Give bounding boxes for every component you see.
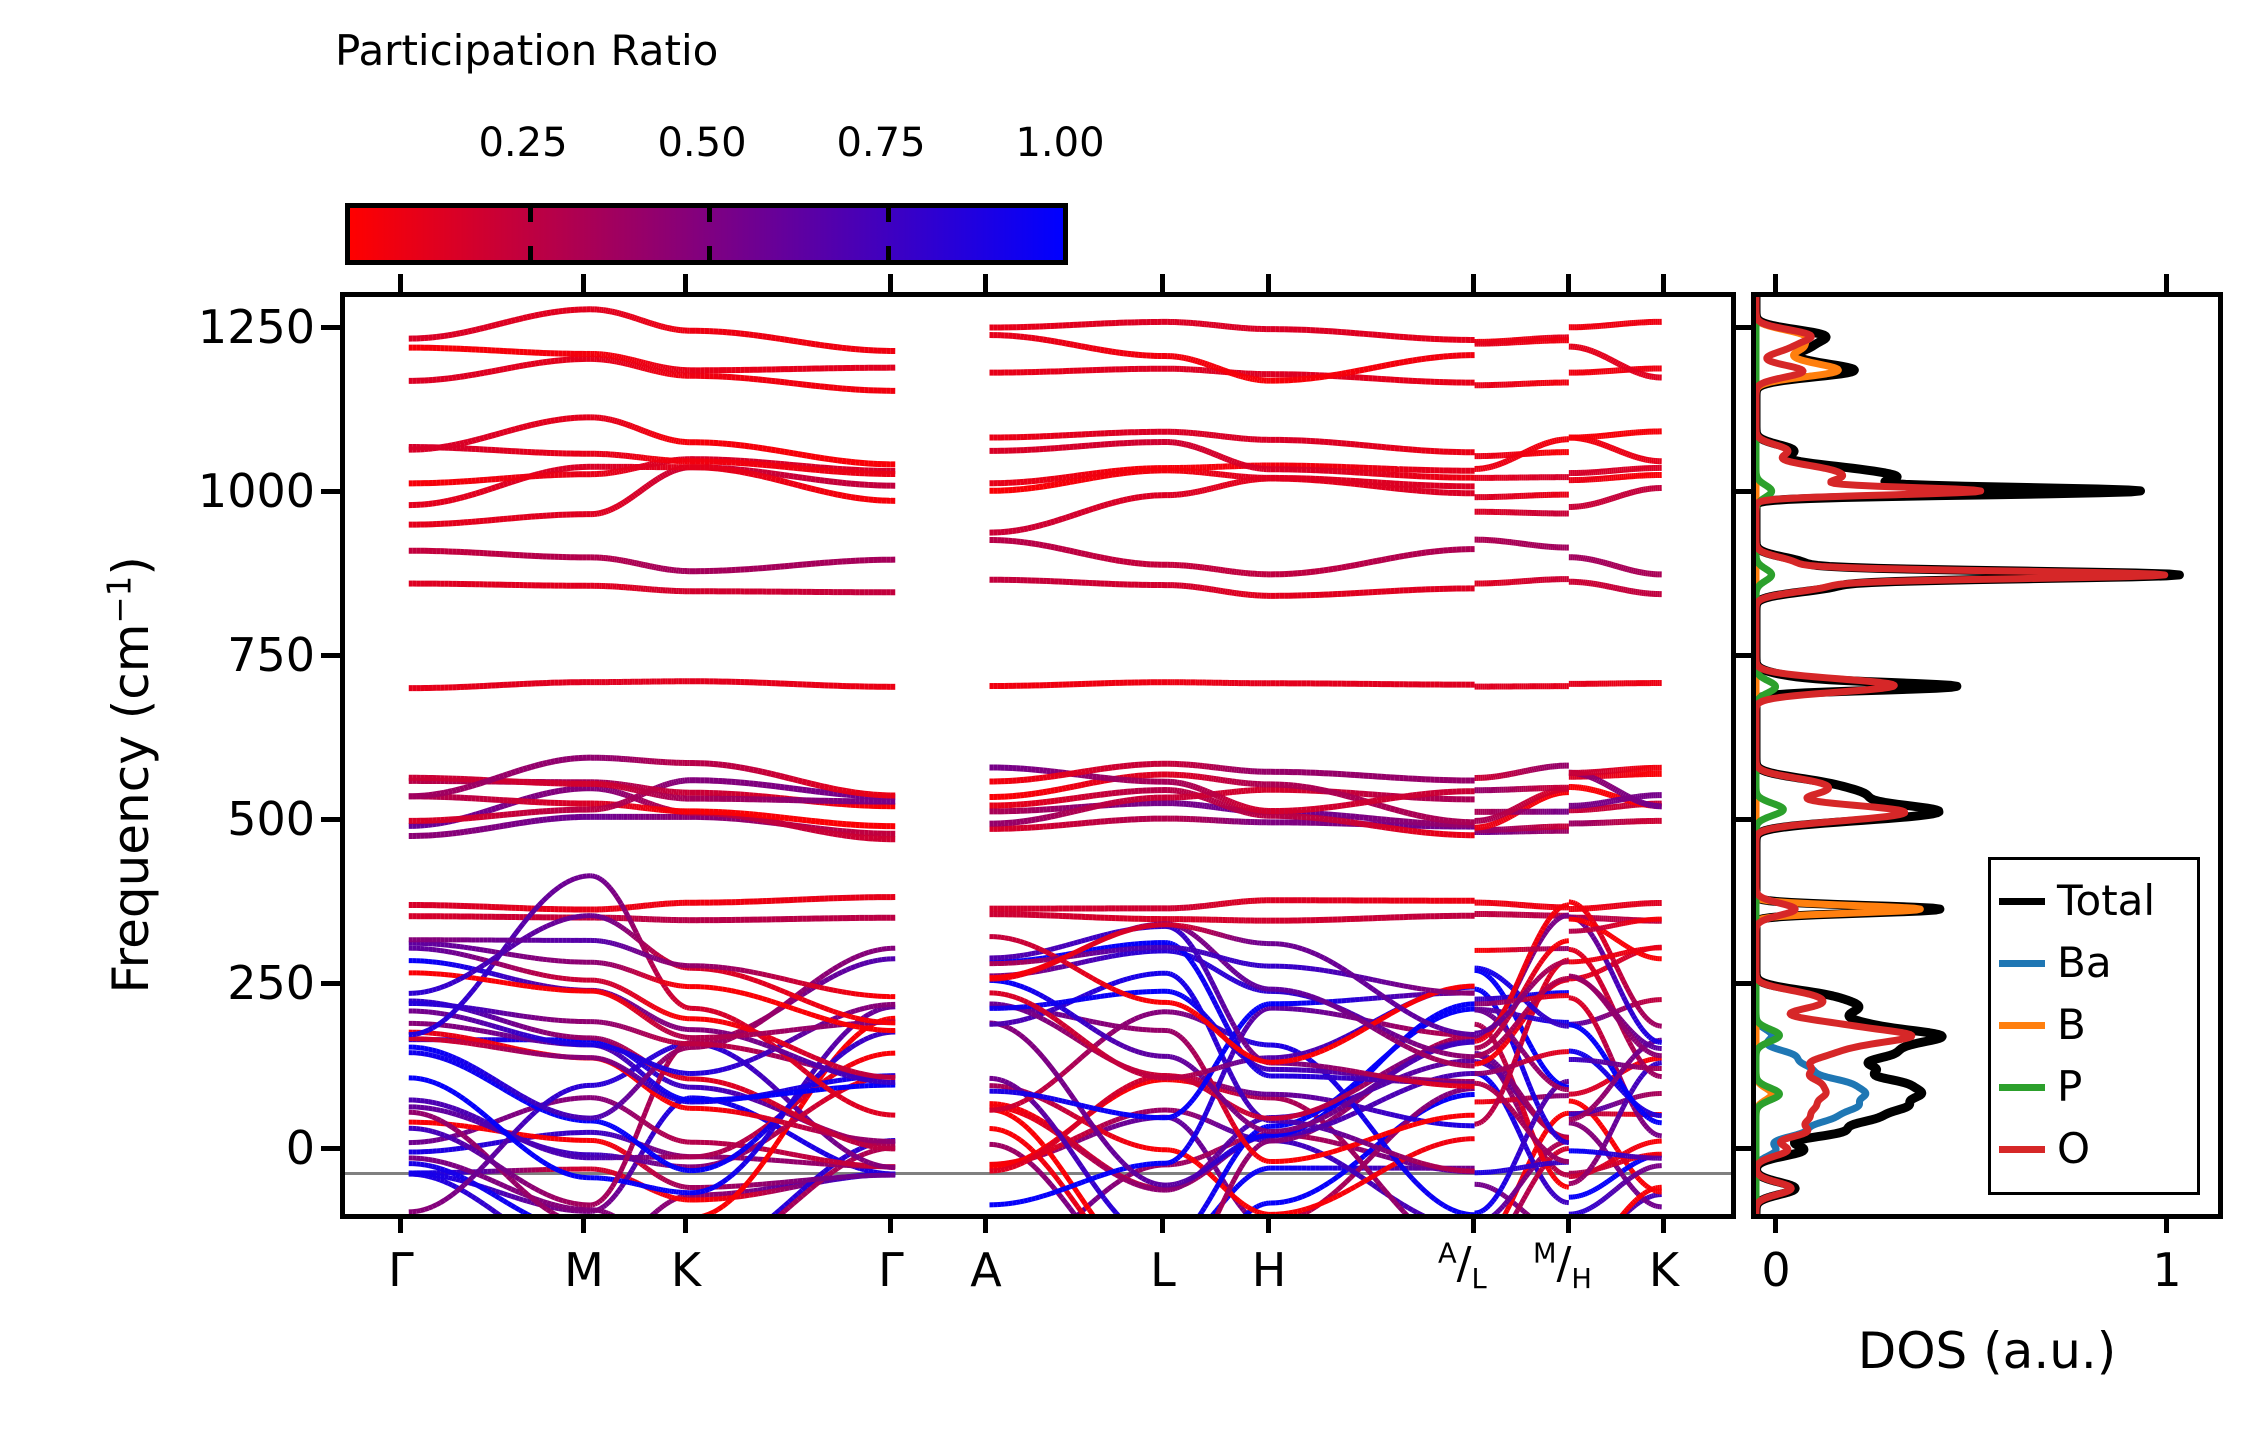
colorbar-ticklabel-050: 0.50 [657, 120, 746, 166]
legend-swatch-b [1999, 1022, 2045, 1029]
legend-item-o[interactable]: O [1991, 1118, 2197, 1180]
x-ticklabel-gamma-2: Γ [878, 1243, 904, 1297]
colorbar-tick-075-top [886, 208, 891, 222]
x-ticklabel-a: A [970, 1243, 1001, 1297]
x-tick-m [581, 1214, 586, 1233]
y-ticklabel-750: 750 [155, 628, 315, 682]
x-ticklabel-l: L [1150, 1243, 1176, 1297]
x-ticklabel-m-over-h: M/H [1533, 1238, 1592, 1295]
x-tick-gamma-1 [398, 1214, 403, 1233]
legend-label-ba: Ba [2057, 942, 2112, 984]
x-tick-top-l [1160, 274, 1165, 293]
y-tick-0 [321, 1146, 340, 1151]
colorbar-tick-025-bot [528, 246, 533, 260]
colorbar-ticklabel-075: 0.75 [836, 120, 925, 166]
y-ticklabel-1000: 1000 [155, 464, 315, 518]
colorbar-title: Participation Ratio [335, 26, 718, 75]
legend-swatch-o [1999, 1146, 2045, 1153]
colorbar-ticklabel-025: 0.25 [478, 120, 567, 166]
y-ticklabel-0: 0 [155, 1121, 315, 1175]
colorbar-tick-075-bot [886, 246, 891, 260]
colorbar-tick-025-top [528, 208, 533, 222]
participation-ratio-colorbar [345, 203, 1068, 265]
legend-item-total[interactable]: Total [1991, 870, 2197, 932]
legend-swatch-total [1999, 898, 2045, 905]
y-ticklabel-500: 500 [155, 792, 315, 846]
x-tick-l [1160, 1214, 1165, 1233]
y-tick-750 [321, 653, 340, 658]
y-axis-label-text: Frequency (cm−1) [102, 556, 160, 993]
x-tick-top-a-over-l [1471, 274, 1476, 293]
x-tick-gamma-2 [888, 1214, 893, 1233]
y-tick-250 [321, 981, 340, 986]
dos-x-tick-0 [1773, 1214, 1778, 1233]
phonon-band-structure-panel [340, 292, 1736, 1219]
phonon-figure: Participation Ratio 0.25 0.50 0.75 1.00 … [0, 0, 2259, 1455]
x-tick-top-k-1 [683, 274, 688, 293]
y-axis-label: Frequency (cm−1) [100, 465, 160, 1085]
x-ticklabel-a-over-l-num: A [1438, 1238, 1457, 1269]
x-ticklabel-a-over-l: A/L [1438, 1238, 1487, 1295]
legend-item-b[interactable]: B [1991, 994, 2197, 1056]
y-ticklabel-250: 250 [155, 956, 315, 1010]
dos-x-tick-top-1 [2164, 274, 2169, 293]
legend-swatch-p [1999, 1084, 2045, 1091]
x-ticklabel-m-over-h-num: M [1533, 1238, 1557, 1269]
x-tick-h [1266, 1214, 1271, 1233]
legend-label-o: O [2057, 1128, 2090, 1170]
dos-x-ticklabel-1: 1 [2152, 1243, 2181, 1297]
dos-legend: Total Ba B P O [1988, 857, 2200, 1195]
x-tick-top-m-over-h [1566, 274, 1571, 293]
dos-x-tick-top-0 [1773, 274, 1778, 293]
legend-item-ba[interactable]: Ba [1991, 932, 2197, 994]
legend-label-b: B [2057, 1004, 2086, 1046]
legend-label-total: Total [2057, 880, 2155, 922]
y-tick-500 [321, 817, 340, 822]
legend-item-p[interactable]: P [1991, 1056, 2197, 1118]
band-structure-plot [345, 297, 1731, 1214]
x-tick-m-over-h [1566, 1214, 1571, 1233]
x-ticklabel-h: H [1252, 1243, 1287, 1297]
y-ticklabel-1250: 1250 [155, 300, 315, 354]
x-tick-top-k-2 [1661, 274, 1666, 293]
x-tick-top-m [581, 274, 586, 293]
y-tick-1000 [321, 489, 340, 494]
dos-x-tick-1 [2164, 1214, 2169, 1233]
x-ticklabel-m: M [564, 1243, 604, 1297]
dos-axis-label: DOS (a.u.) [1751, 1322, 2223, 1380]
legend-swatch-ba [1999, 960, 2045, 967]
x-tick-a-over-l [1471, 1214, 1476, 1233]
x-tick-a [983, 1214, 988, 1233]
x-tick-top-gamma-2 [888, 274, 893, 293]
x-tick-k-1 [683, 1214, 688, 1233]
x-tick-top-h [1266, 274, 1271, 293]
dos-x-ticklabel-0: 0 [1761, 1243, 1790, 1297]
x-ticklabel-gamma-1: Γ [388, 1243, 414, 1297]
x-tick-k-2 [1661, 1214, 1666, 1233]
colorbar-tick-050-bot [707, 246, 712, 260]
x-tick-top-a [983, 274, 988, 293]
colorbar-ticklabel-100: 1.00 [1015, 120, 1104, 166]
x-tick-top-gamma-1 [398, 274, 403, 293]
x-ticklabel-k-1: K [671, 1243, 701, 1297]
x-ticklabel-k-2: K [1649, 1243, 1679, 1297]
y-tick-1250 [321, 325, 340, 330]
x-ticklabel-m-over-h-den: H [1571, 1264, 1592, 1295]
x-ticklabel-a-over-l-den: L [1471, 1264, 1486, 1295]
colorbar-tick-050-top [707, 208, 712, 222]
legend-label-p: P [2057, 1066, 2082, 1108]
